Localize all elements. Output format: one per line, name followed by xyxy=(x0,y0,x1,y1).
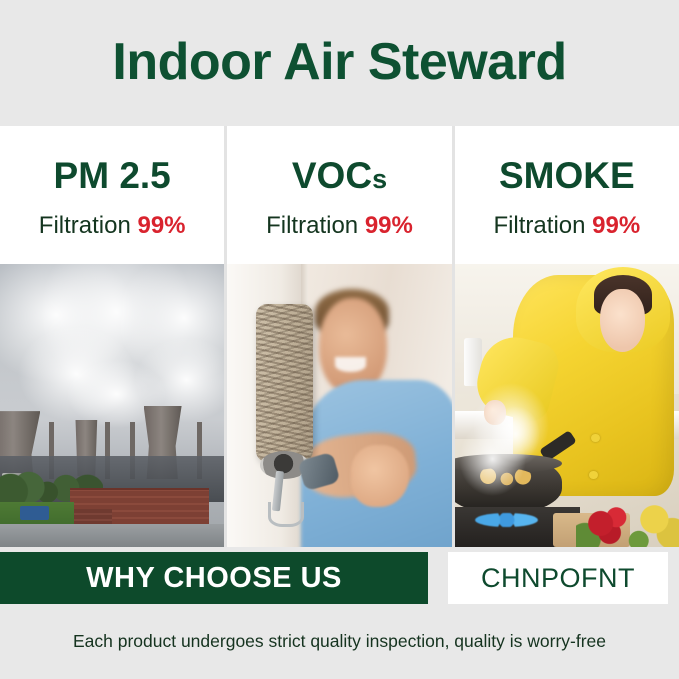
brand-name-label: CHNPOFNT xyxy=(481,565,635,592)
feature-title-vocs-main: VOC xyxy=(292,155,372,196)
paint-roller-sleeve xyxy=(256,304,312,462)
blue-truck xyxy=(20,506,49,520)
foreground-ground xyxy=(0,524,224,547)
banner-divider xyxy=(428,552,448,604)
feature-filtration-smoke: Filtration 99% xyxy=(493,214,640,238)
woman-cooking-photo xyxy=(455,264,679,547)
person-smile xyxy=(335,357,366,371)
feature-title-smoke: SMOKE xyxy=(499,157,635,194)
tagline-band: Each product undergoes strict quality in… xyxy=(0,604,679,679)
feature-card-vocs: VOCs Filtration 99% xyxy=(227,126,451,547)
feature-photo-pm25 xyxy=(0,264,224,547)
feature-filtration-pm25: Filtration 99% xyxy=(39,214,186,238)
feature-photo-vocs xyxy=(227,264,451,547)
gas-flame-icon xyxy=(475,513,538,527)
person-face xyxy=(600,289,645,351)
why-choose-us-label: WHY CHOOSE US xyxy=(86,564,342,593)
banner-row: WHY CHOOSE US CHNPOFNT xyxy=(0,552,679,604)
industrial-plant-photo xyxy=(0,264,224,547)
filtration-label-pm25: Filtration xyxy=(39,212,131,239)
person-hand xyxy=(351,445,409,507)
feature-photo-smoke xyxy=(455,264,679,547)
feature-card-smoke: SMOKE Filtration 99% xyxy=(455,126,679,547)
feature-header-vocs: VOCs Filtration 99% xyxy=(227,126,451,264)
filtration-percent-pm25: 99% xyxy=(137,212,185,239)
feature-header-pm25: PM 2.5 Filtration 99% xyxy=(0,126,224,264)
filtration-percent-vocs: 99% xyxy=(365,212,413,239)
filtration-label-smoke: Filtration xyxy=(493,212,585,239)
brand-badge: CHNPOFNT xyxy=(448,552,668,604)
feature-title-vocs-suffix: s xyxy=(372,164,387,194)
cooking-smoke-icon xyxy=(491,406,540,463)
feature-filtration-vocs: Filtration 99% xyxy=(266,214,413,238)
filtration-percent-smoke: 99% xyxy=(592,212,640,239)
feature-title-vocs: VOCs xyxy=(292,157,387,194)
title-band: Indoor Air Steward xyxy=(0,0,679,124)
paint-roller-frame-bend xyxy=(268,502,304,527)
vegetables xyxy=(576,502,679,547)
tagline-text: Each product undergoes strict quality in… xyxy=(73,633,606,651)
filtration-label-vocs: Filtration xyxy=(266,212,358,239)
page-title: Indoor Air Steward xyxy=(112,36,566,88)
why-choose-us-banner: WHY CHOOSE US xyxy=(0,552,428,604)
man-painting-wall-photo xyxy=(227,264,451,547)
feature-header-smoke: SMOKE Filtration 99% xyxy=(455,126,679,264)
feature-title-pm25: PM 2.5 xyxy=(54,157,171,194)
feature-card-pm25: PM 2.5 Filtration 99% xyxy=(0,126,224,547)
feature-columns: PM 2.5 Filtration 99% xyxy=(0,126,679,547)
